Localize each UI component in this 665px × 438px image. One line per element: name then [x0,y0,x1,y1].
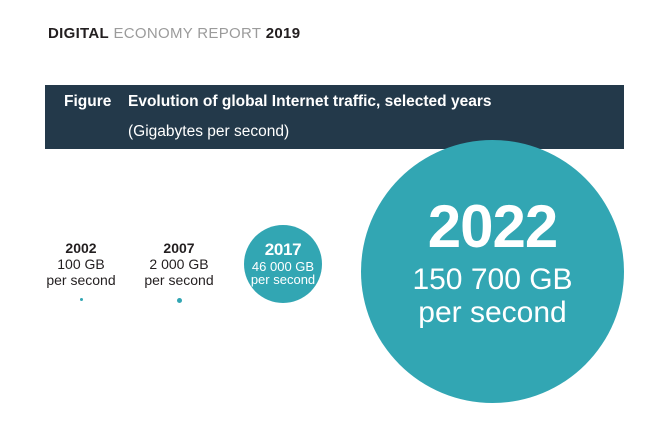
bubble-2002-label: 2002 100 GB per second [31,240,131,289]
bubble-2007-marker [177,298,182,303]
bubble-chart: 2022 150 700 GB per second 2017 46 000 G… [0,0,665,438]
bubble-2017-unit: per second [244,273,322,287]
banner-text-block: Evolution of global Internet traffic, se… [128,92,609,142]
bubble-2007: 2007 2 000 GB per second [129,240,229,303]
figure-title: Evolution of global Internet traffic, se… [128,92,609,112]
bubble-2017-label: 2017 46 000 GB per second [244,241,322,287]
figure-subtitle: (Gigabytes per second) [128,122,609,142]
report-brand-economy-report: ECONOMY REPORT [113,25,261,42]
bubble-2002-value: 100 GB [31,256,131,272]
report-brand-digital: DIGITAL [48,25,109,42]
bubble-2022-unit: per second [361,296,624,330]
bubble-2002: 2002 100 GB per second [31,240,131,301]
report-header: DIGITAL ECONOMY REPORT 2019 [48,26,300,41]
bubble-2002-unit: per second [31,272,131,288]
bubble-2022-value: 150 700 GB [361,263,624,297]
bubble-2017: 2017 46 000 GB per second [244,225,322,303]
bubble-2007-value: 2 000 GB [129,256,229,272]
bubble-2022: 2022 150 700 GB per second [361,140,624,403]
bubble-2007-unit: per second [129,272,229,288]
bubble-2002-year: 2002 [31,240,131,256]
banner-row: Figure Evolution of global Internet traf… [64,92,609,142]
bubble-2007-label: 2007 2 000 GB per second [129,240,229,289]
bubble-2017-value: 46 000 GB [244,260,322,274]
bubble-2022-label: 2022 150 700 GB per second [361,198,624,330]
figure-title-banner: Figure Evolution of global Internet traf… [45,85,624,149]
bubble-2022-year: 2022 [361,198,624,257]
bubble-2002-marker [80,298,83,301]
bubble-2007-year: 2007 [129,240,229,256]
report-brand-year: 2019 [266,25,301,42]
figure-label: Figure [64,92,128,112]
bubble-2017-year: 2017 [244,241,322,259]
